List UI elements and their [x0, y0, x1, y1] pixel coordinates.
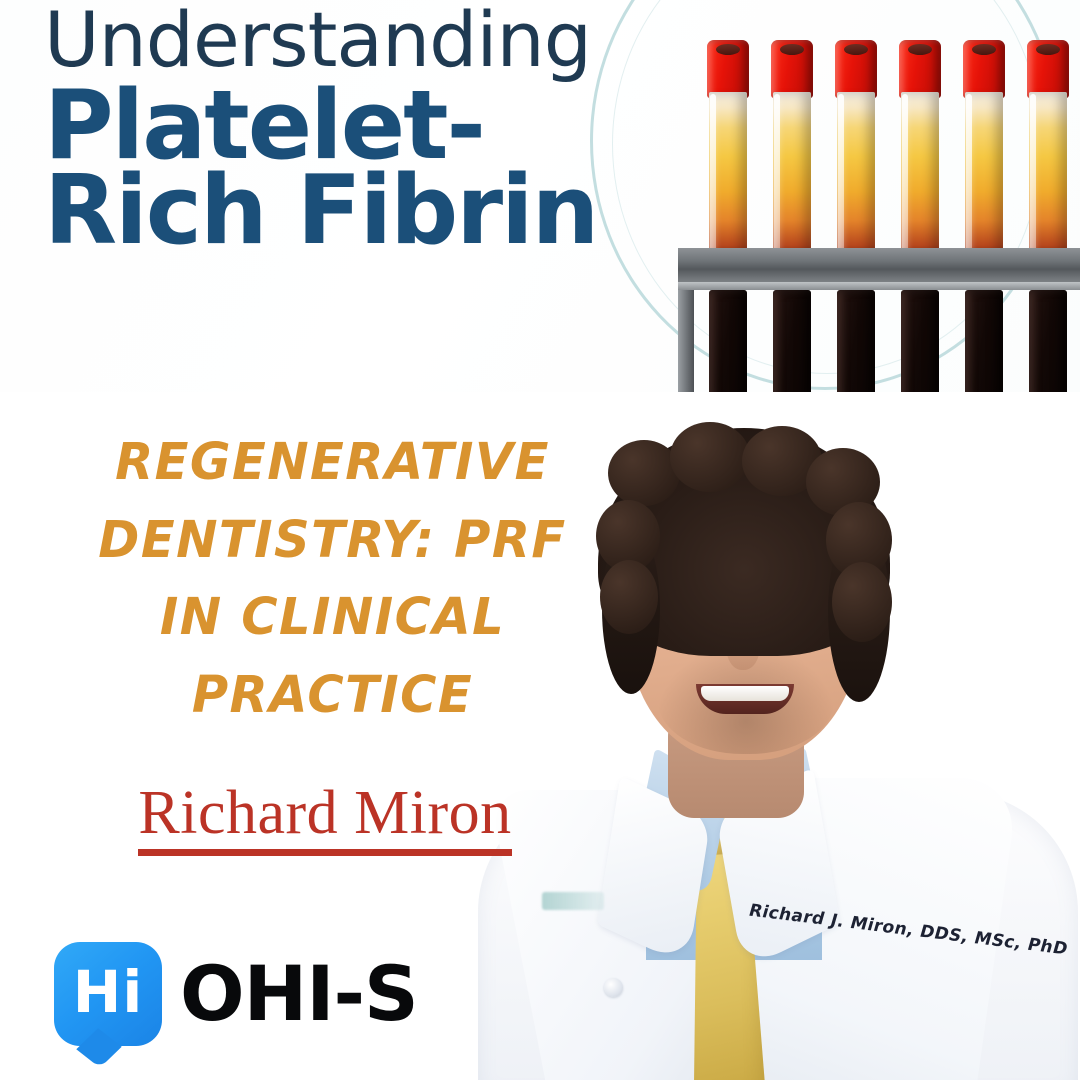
speaker-name-block: Richard Miron	[60, 779, 590, 856]
test-tube-rack-illustration	[700, 40, 1080, 388]
logo-mark-text: Hi	[73, 963, 143, 1025]
course-title: REGENERATIVE DENTISTRY: PRF IN CLINICAL …	[58, 424, 606, 734]
tube-cap-icon	[707, 40, 749, 98]
hair-curl	[832, 562, 892, 642]
tube-cap-icon	[835, 40, 877, 98]
tube-glint	[902, 94, 908, 264]
tube-blood-body	[837, 290, 875, 392]
course-promo-poster: Understanding Platelet- Rich Fibrin	[0, 0, 1080, 1080]
lab-coat-button	[604, 978, 623, 997]
tube-glint	[838, 94, 844, 264]
tube-blood-body	[709, 290, 747, 392]
ohi-s-logo[interactable]: Hi OHI-S	[54, 942, 418, 1046]
smiling-mouth	[696, 684, 794, 714]
hair-curl	[600, 560, 658, 634]
banner-headline: Understanding Platelet- Rich Fibrin	[44, 4, 664, 257]
tube-glint	[774, 94, 780, 264]
tube-glint	[1030, 94, 1036, 264]
tube-blood-body	[773, 290, 811, 392]
lab-coat-chest-logo	[542, 892, 604, 910]
tube-glint	[710, 94, 716, 264]
logo-wordmark: OHI-S	[180, 956, 418, 1032]
banner-headline-line-3: Rich Fibrin	[44, 166, 664, 257]
tube-cap-icon	[963, 40, 1005, 98]
tube-blood-body	[965, 290, 1003, 392]
banner-header: Understanding Platelet- Rich Fibrin	[0, 0, 1080, 392]
teeth	[701, 686, 789, 701]
hi-speech-bubble-icon: Hi	[54, 942, 162, 1046]
hair-curl	[670, 422, 750, 492]
hair-curl	[608, 440, 680, 506]
tube-blood-body	[1029, 290, 1067, 392]
tube-cap-icon	[1027, 40, 1069, 98]
banner-headline-line-1: Understanding	[44, 4, 664, 77]
tube-cap-icon	[899, 40, 941, 98]
rack-upper-shelf-front	[678, 248, 1080, 282]
speaker-name: Richard Miron	[138, 779, 511, 856]
tube-cap-icon	[771, 40, 813, 98]
tube-glint	[966, 94, 972, 264]
tube-blood-body	[901, 290, 939, 392]
